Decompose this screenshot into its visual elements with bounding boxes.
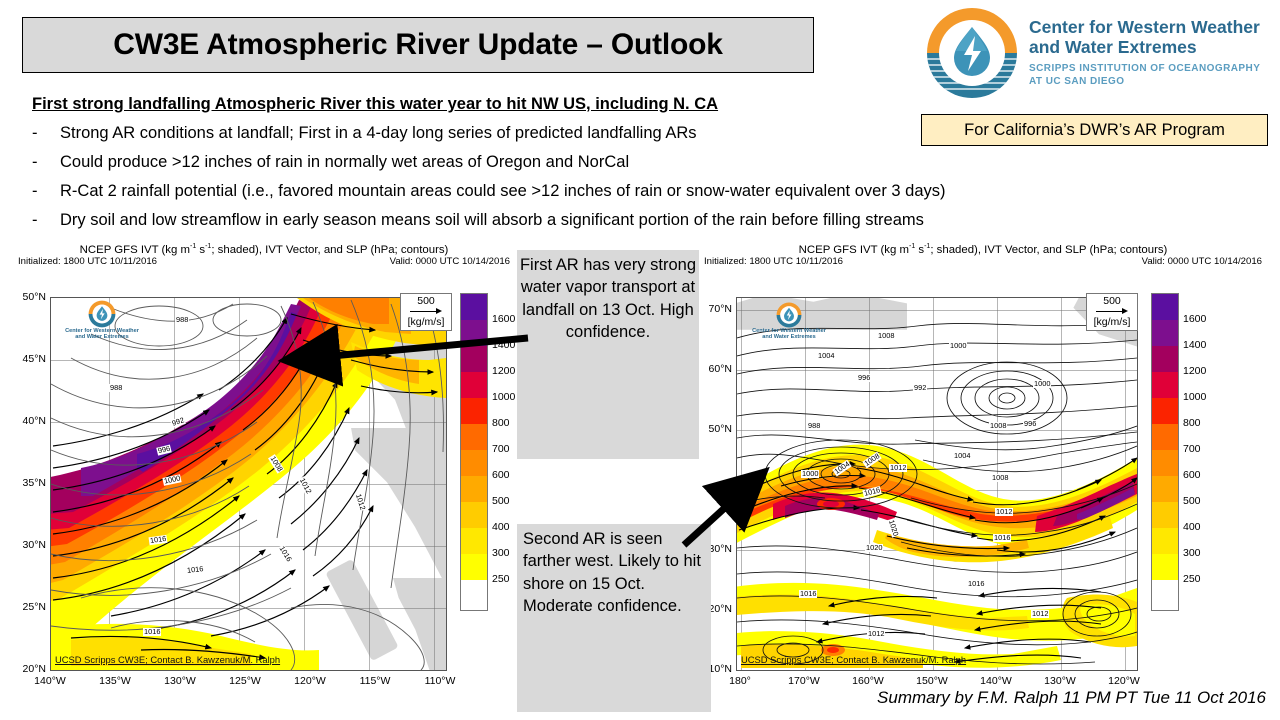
colorbar-tick-label: 1400 <box>492 339 515 351</box>
water-droplet-lightning-icon <box>776 302 802 328</box>
contour-label: 988 <box>175 316 189 324</box>
map-right-colorbar <box>1151 293 1179 611</box>
y-tick-label: 35°N <box>10 477 46 489</box>
contour-label: 1000 <box>949 342 967 350</box>
slp-contours-right <box>737 298 1137 670</box>
map-watermark-line-2: and Water Extremes <box>63 334 141 341</box>
contour-label: 1004 <box>817 352 835 360</box>
contour-label: 1016 <box>799 590 817 598</box>
map-watermark-line-1: Center for Western Weather <box>63 328 141 335</box>
colorbar-tick-label: 1600 <box>492 313 515 325</box>
map-left-title: NCEP GFS IVT (kg m-1 s-1; shaded), IVT V… <box>14 243 514 256</box>
x-tick-label: 115°W <box>353 675 397 687</box>
map-watermark-logo: Center for Western Weather and Water Ext… <box>751 302 827 341</box>
colorbar-tick-label: 1200 <box>492 365 515 377</box>
headline: First strong landfalling Atmospheric Riv… <box>32 95 718 114</box>
cw3e-logo-mark <box>925 6 1019 100</box>
y-tick-label: 30°N <box>10 539 46 551</box>
water-droplet-lightning-icon <box>925 6 1019 100</box>
bullet-text: Dry soil and low streamflow in early sea… <box>60 211 924 229</box>
x-tick-label: 170°W <box>782 675 826 687</box>
contour-label: 1016 <box>186 565 205 575</box>
colorbar-tick-label: 250 <box>1183 573 1201 585</box>
bullet-text: R-Cat 2 rainfall potential (i.e., favore… <box>60 182 946 200</box>
contour-label: 1008 <box>991 474 1009 482</box>
map-right-vector-legend: 500 [kg/m/s] <box>1086 293 1138 331</box>
x-tick-label: 140°W <box>28 675 72 687</box>
colorbar-tick-label: 1000 <box>1183 391 1206 403</box>
bullet-marker: - <box>32 124 60 143</box>
colorbar-tick-label: 1400 <box>1183 339 1206 351</box>
x-tick-label: 150°W <box>910 675 954 687</box>
callout-second-ar: Second AR is seen farther west. Likely t… <box>517 524 711 712</box>
slide-title-box: CW3E Atmospheric River Update – Outlook <box>22 17 814 73</box>
bullet-item: -Dry soil and low streamflow in early se… <box>32 211 924 230</box>
y-tick-label: 40°N <box>10 415 46 427</box>
map-left-colorbar <box>460 293 488 611</box>
map-panel-left: NCEP GFS IVT (kg m-1 s-1; shaded), IVT V… <box>14 243 514 683</box>
x-tick-label: 180° <box>718 675 762 687</box>
x-tick-label: 160°W <box>846 675 890 687</box>
y-tick-label: 60°N <box>694 363 732 375</box>
x-tick-label: 140°W <box>974 675 1018 687</box>
map-watermark-line-2: and Water Extremes <box>751 334 827 341</box>
contour-label: 1004 <box>953 452 971 460</box>
colorbar-tick-label: 300 <box>1183 547 1201 559</box>
bullet-item: -Could produce >12 inches of rain in nor… <box>32 153 629 172</box>
y-tick-label: 40°N <box>694 483 732 495</box>
map-left-plot-area: 988 988 992 996 1000 1008 1012 1012 1016… <box>50 297 447 671</box>
logo-line-1: Center for Western Weather <box>1029 18 1275 38</box>
x-tick-label: 130°W <box>158 675 202 687</box>
x-tick-label: 120°W <box>1102 675 1146 687</box>
y-tick-label: 45°N <box>10 353 46 365</box>
x-tick-label: 135°W <box>93 675 137 687</box>
bullet-text: Could produce >12 inches of rain in norm… <box>60 153 629 171</box>
map-left-subheader: Initialized: 1800 UTC 10/11/2016 Valid: … <box>14 256 514 269</box>
water-droplet-lightning-icon <box>88 300 116 328</box>
contour-label: 1012 <box>1031 610 1049 618</box>
colorbar-tick-label: 700 <box>1183 443 1201 455</box>
colorbar-tick-label: 800 <box>1183 417 1201 429</box>
map-panel-right: NCEP GFS IVT (kg m-1 s-1; shaded), IVT V… <box>700 243 1266 683</box>
map-left-valid: Valid: 0000 UTC 10/14/2016 <box>390 256 510 267</box>
contour-label: 1012 <box>889 464 907 472</box>
colorbar-tick-label: 600 <box>1183 469 1201 481</box>
bullet-marker: - <box>32 211 60 230</box>
map-right-credit: UCSD Scripps CW3E; Contact B. Kawzenuk/M… <box>741 654 966 665</box>
bullet-marker: - <box>32 153 60 172</box>
bullet-item: -R-Cat 2 rainfall potential (i.e., favor… <box>32 182 946 201</box>
callout-first-ar: First AR has very strong water vapor tra… <box>517 250 699 459</box>
map-left-initialized: Initialized: 1800 UTC 10/11/2016 <box>18 256 157 267</box>
colorbar-tick-label: 1200 <box>1183 365 1206 377</box>
cw3e-logo: Center for Western Weather and Water Ext… <box>925 4 1275 104</box>
colorbar-tick-label: 700 <box>492 443 510 455</box>
y-tick-label: 70°N <box>694 303 732 315</box>
summary-line: Summary by F.M. Ralph 11 PM PT Tue 11 Oc… <box>877 688 1266 708</box>
colorbar-tick-label: 800 <box>492 417 510 429</box>
logo-wordmark: Center for Western Weather and Water Ext… <box>1029 18 1275 88</box>
contour-label: 996 <box>1023 420 1037 428</box>
vector-legend-units: [kg/m/s] <box>1090 316 1134 328</box>
contour-label: 1008 <box>989 422 1007 430</box>
y-tick-label: 50°N <box>694 423 732 435</box>
map-right-subheader: Initialized: 1800 UTC 10/11/2016 Valid: … <box>700 256 1266 269</box>
colorbar-tick-label: 300 <box>492 547 510 559</box>
map-right-plot-area: 1008 1004 1000 996 992 988 1000 1004 100… <box>736 297 1138 671</box>
colorbar-tick-label: 400 <box>492 521 510 533</box>
map-left-vector-legend: 500 [kg/m/s] <box>400 293 452 331</box>
colorbar-tick-label: 1000 <box>492 391 515 403</box>
x-tick-label: 120°W <box>288 675 332 687</box>
contour-label: 996 <box>857 374 871 382</box>
x-tick-label: 125°W <box>223 675 267 687</box>
map-right-initialized: Initialized: 1800 UTC 10/11/2016 <box>704 256 843 267</box>
map-right-valid: Valid: 0000 UTC 10/14/2016 <box>1142 256 1262 267</box>
x-tick-label: 130°W <box>1038 675 1082 687</box>
map-left-credit: UCSD Scripps CW3E; Contact B. Kawzenuk/M… <box>55 654 280 665</box>
map-watermark-line-1: Center for Western Weather <box>751 328 827 335</box>
x-tick-label: 110°W <box>418 675 462 687</box>
contour-label: 1000 <box>1033 380 1051 388</box>
contour-label: 992 <box>913 384 927 392</box>
contour-label: 988 <box>807 422 821 430</box>
vector-legend-value: 500 <box>404 295 448 307</box>
slp-contours-left <box>51 298 446 670</box>
logo-line-4: AT UC SAN DIEGO <box>1029 76 1275 89</box>
colorbar-tick-label: 600 <box>492 469 510 481</box>
logo-line-3: SCRIPPS INSTITUTION OF OCEANOGRAPHY <box>1029 63 1275 76</box>
dwr-program-label: For California’s DWR’s AR Program <box>964 121 1225 140</box>
map-watermark-logo: Center for Western Weather and Water Ext… <box>63 300 141 341</box>
contour-label: 988 <box>109 384 123 392</box>
contour-label: 1000 <box>801 470 819 478</box>
contour-label: 1016 <box>967 580 985 588</box>
contour-label: 1008 <box>877 332 895 340</box>
vector-legend-units: [kg/m/s] <box>404 316 448 328</box>
contour-label: 1020 <box>865 544 883 552</box>
contour-label: 1016 <box>993 534 1011 542</box>
colorbar-tick-label: 400 <box>1183 521 1201 533</box>
vector-legend-value: 500 <box>1090 295 1134 307</box>
page-title: CW3E Atmospheric River Update – Outlook <box>113 28 723 62</box>
logo-line-2: and Water Extremes <box>1029 38 1275 58</box>
contour-label: 1016 <box>143 628 161 636</box>
contour-label: 1012 <box>867 630 885 638</box>
map-right-title: NCEP GFS IVT (kg m-1 s-1; shaded), IVT V… <box>700 243 1266 256</box>
y-tick-label: 20°N <box>10 663 46 675</box>
y-tick-label: 50°N <box>10 291 46 303</box>
colorbar-tick-label: 250 <box>492 573 510 585</box>
dwr-program-banner: For California’s DWR’s AR Program <box>921 114 1268 146</box>
vector-legend-arrow-icon <box>404 307 448 316</box>
contour-label: 1012 <box>995 508 1013 516</box>
bullet-item: -Strong AR conditions at landfall; First… <box>32 124 697 143</box>
y-tick-label: 25°N <box>10 601 46 613</box>
colorbar-tick-label: 1600 <box>1183 313 1206 325</box>
vector-legend-arrow-icon <box>1090 307 1134 316</box>
bullet-marker: - <box>32 182 60 201</box>
colorbar-tick-label: 500 <box>1183 495 1201 507</box>
bullet-text: Strong AR conditions at landfall; First … <box>60 124 697 142</box>
colorbar-tick-label: 500 <box>492 495 510 507</box>
